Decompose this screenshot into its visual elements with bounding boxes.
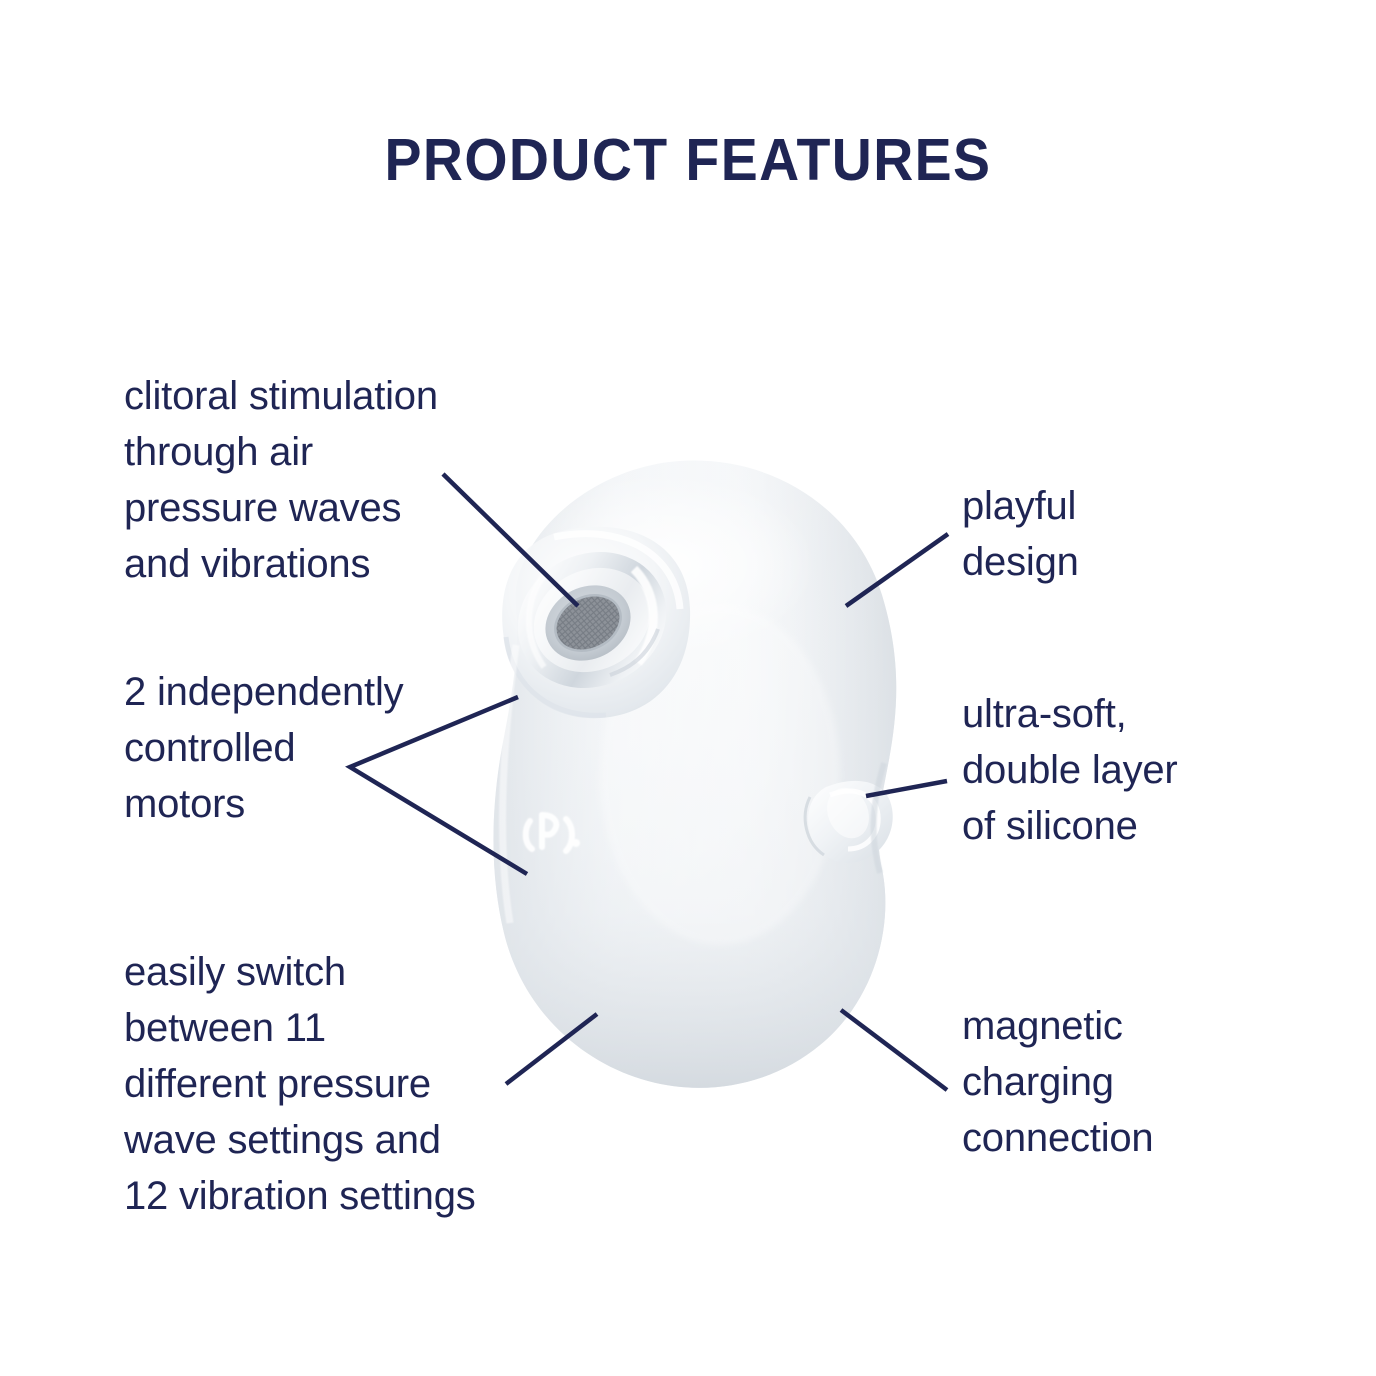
callout-motors: 2 independently controlled motors — [124, 664, 544, 832]
callout-silicone: ultra-soft, double layer of silicone — [962, 686, 1292, 854]
page-title: PRODUCT FEATURES — [41, 126, 1334, 194]
callout-magnetic-charging: magnetic charging connection — [962, 998, 1292, 1166]
callout-settings: easily switch between 11 different press… — [124, 944, 594, 1224]
product-features-infographic: PRODUCT FEATURES — [0, 0, 1376, 1376]
callout-clitoral-stimulation: clitoral stimulation through air pressur… — [124, 368, 544, 592]
callout-playful-design: playful design — [962, 478, 1292, 590]
